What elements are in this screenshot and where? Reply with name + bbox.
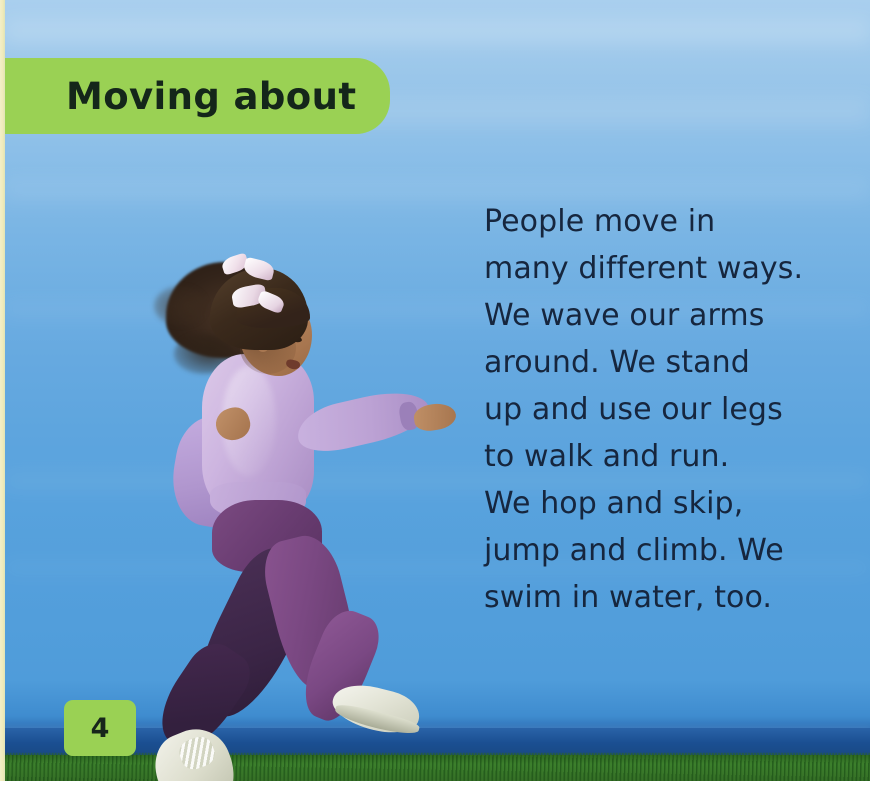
page-number-badge: 4 <box>64 700 136 756</box>
body-line: swim in water, too. <box>484 574 814 621</box>
bottom-edge-strip <box>0 781 870 785</box>
jumping-girl-figure <box>144 250 464 750</box>
body-line: We hop and skip, <box>484 480 814 527</box>
body-line: up and use our legs <box>484 386 814 433</box>
title-banner: Moving about <box>0 58 390 134</box>
page-title: Moving about <box>66 75 356 118</box>
body-line: We wave our arms <box>484 292 814 339</box>
book-page: Moving about People move in many differe… <box>0 0 870 785</box>
body-line: many different ways. <box>484 245 814 292</box>
body-line: People move in <box>484 198 814 245</box>
body-line: to walk and run. <box>484 433 814 480</box>
cloud-band <box>4 18 870 44</box>
body-line: around. We stand <box>484 339 814 386</box>
page-number-value: 4 <box>91 713 110 744</box>
hair-wisp <box>154 286 206 326</box>
cloud-band <box>4 178 870 200</box>
left-edge-strip <box>0 0 5 785</box>
grass-field <box>4 755 870 781</box>
body-line: jump and climb. We <box>484 527 814 574</box>
body-text-block: People move in many different ways. We w… <box>484 198 814 621</box>
